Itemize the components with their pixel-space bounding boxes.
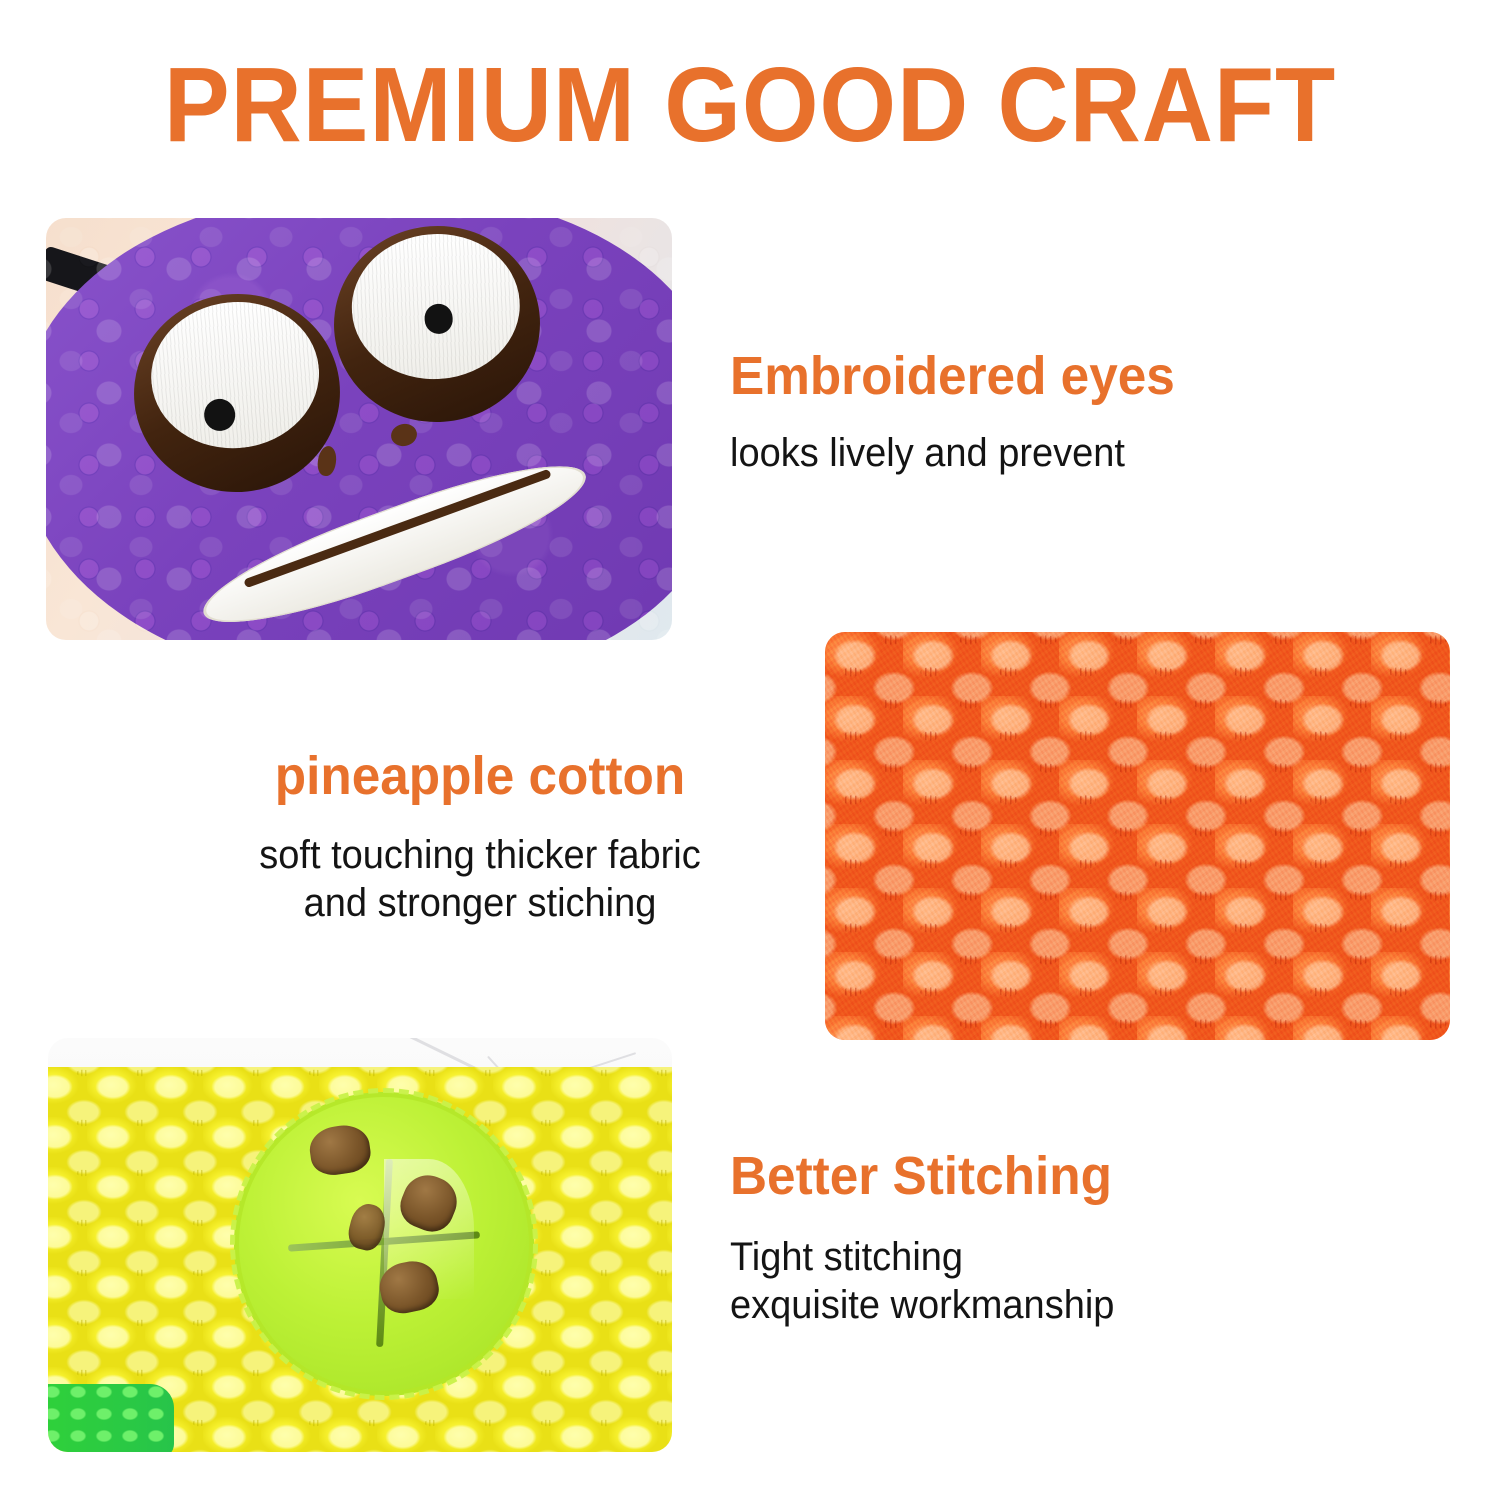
feature-body-line-2: and stronger stiching — [195, 879, 765, 928]
green-fabric-corner — [48, 1384, 174, 1452]
mouth-patch — [192, 442, 598, 640]
photo-better-stitching — [48, 1038, 672, 1452]
feature-body: looks lively and prevent — [730, 429, 1175, 478]
fabric-grain — [825, 632, 1450, 1040]
feature-body: Tight stitching exquisite workmanship — [730, 1233, 1114, 1331]
feature-better-stitching: Better Stitching Tight stitching exquisi… — [730, 1148, 1135, 1330]
feature-heading: Embroidered eyes — [730, 348, 1175, 405]
embroidered-eye-right — [327, 219, 546, 429]
feature-embroidered-eyes: Embroidered eyes looks lively and preven… — [730, 348, 1198, 477]
feature-heading: pineapple cotton — [195, 748, 765, 805]
feature-pineapple-cotton: pineapple cotton soft touching thicker f… — [180, 748, 780, 928]
feature-heading: Better Stitching — [730, 1148, 1114, 1205]
photo-pineapple-cotton — [825, 632, 1450, 1040]
green-treat-flap — [234, 1092, 534, 1396]
feature-body-line-1: Tight stitching — [730, 1233, 1114, 1282]
photo-embroidered-eyes — [46, 218, 672, 640]
feature-body: soft touching thicker fabric and stronge… — [195, 831, 765, 929]
embroidered-mouth — [194, 450, 600, 618]
feature-body-line-1: soft touching thicker fabric — [195, 831, 765, 880]
feature-body-line-2: exquisite workmanship — [730, 1281, 1114, 1330]
page-title: PREMIUM GOOD CRAFT — [53, 52, 1448, 158]
